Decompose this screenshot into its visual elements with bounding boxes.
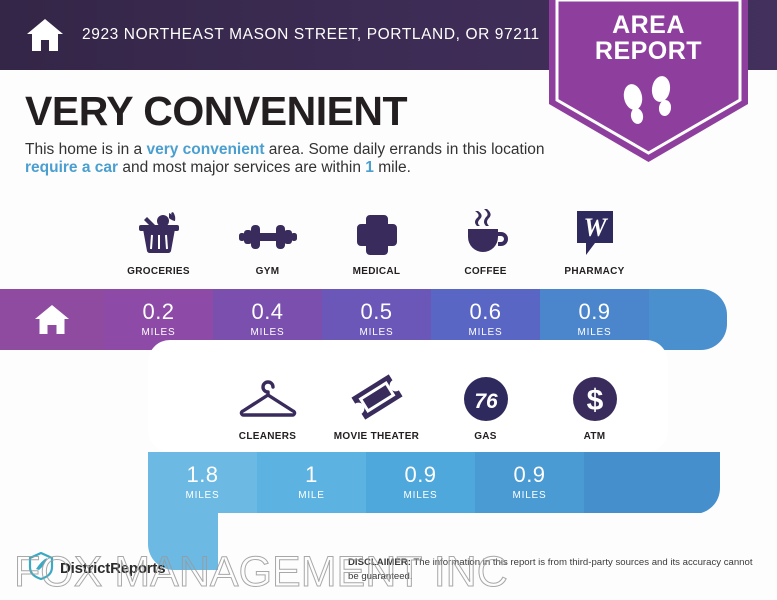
category-label: MOVIE THEATER bbox=[334, 431, 419, 442]
category-label: MEDICAL bbox=[353, 266, 401, 277]
category-atm[interactable]: $ ATM bbox=[540, 370, 649, 442]
svg-text:76: 76 bbox=[474, 390, 498, 413]
distance-value: 1.8 bbox=[186, 464, 218, 486]
subtitle-highlight-3: 1 bbox=[365, 159, 374, 176]
medical-cross-icon bbox=[355, 205, 399, 257]
category-label: COFFEE bbox=[464, 266, 506, 277]
distance-value: 0.9 bbox=[513, 464, 545, 486]
distance-unit: MILE bbox=[298, 490, 325, 501]
row1-icon-group: GROCERIES GYM bbox=[104, 205, 649, 277]
subtitle-highlight-1: very convenient bbox=[146, 141, 264, 158]
coffee-cup-icon bbox=[461, 205, 511, 257]
category-label: GAS bbox=[474, 431, 497, 442]
bar2-segments: 1.8 MILES 1 MILE 0.9 MILES 0.9 MILES bbox=[148, 452, 720, 514]
category-label: ATM bbox=[584, 431, 606, 442]
disclaimer-label: DISCLAIMER: bbox=[348, 557, 411, 568]
distance-unit: MILES bbox=[141, 327, 175, 338]
distance-value: 0.4 bbox=[251, 301, 283, 323]
badge-label: AREA REPORT bbox=[549, 12, 748, 64]
distance-segment: 1.8 MILES bbox=[148, 452, 257, 513]
category-coffee[interactable]: COFFEE bbox=[431, 205, 540, 277]
category-cleaners[interactable]: CLEANERS bbox=[213, 370, 322, 442]
category-label: CLEANERS bbox=[239, 431, 296, 442]
category-groceries[interactable]: GROCERIES bbox=[104, 205, 213, 277]
svg-text:W: W bbox=[583, 213, 608, 242]
subtitle-part-1: This home is in a bbox=[25, 141, 146, 158]
bar-home-cell bbox=[0, 289, 104, 350]
subtitle-part-4: mile. bbox=[374, 159, 411, 176]
area-report-page: 2923 NORTHEAST MASON STREET, PORTLAND, O… bbox=[0, 0, 777, 600]
distance-unit: MILES bbox=[468, 327, 502, 338]
dumbbell-icon bbox=[239, 205, 297, 257]
page-subtitle: This home is in a very convenient area. … bbox=[25, 141, 555, 177]
distance-value: 0.6 bbox=[469, 301, 501, 323]
movie-ticket-icon bbox=[351, 370, 403, 422]
district-reports-logo: DistrictReports bbox=[28, 552, 165, 585]
category-label: GROCERIES bbox=[127, 266, 190, 277]
property-address: 2923 NORTHEAST MASON STREET, PORTLAND, O… bbox=[82, 26, 540, 44]
distance-value: 1 bbox=[305, 464, 318, 486]
distance-unit: MILES bbox=[577, 327, 611, 338]
distance-value: 0.9 bbox=[404, 464, 436, 486]
distance-value: 0.9 bbox=[578, 301, 610, 323]
distance-unit: MILES bbox=[185, 490, 219, 501]
distance-unit: MILES bbox=[359, 327, 393, 338]
home-icon bbox=[33, 303, 71, 337]
walgreens-w-icon: W bbox=[573, 205, 617, 257]
distance-segment: 0.9 MILES bbox=[475, 452, 584, 513]
subtitle-part-3: and most major services are within bbox=[118, 159, 365, 176]
distance-segment: 0.9 MILES bbox=[366, 452, 475, 513]
bar-tail bbox=[584, 452, 720, 513]
distance-value: 0.5 bbox=[360, 301, 392, 323]
logo-text: DistrictReports bbox=[60, 560, 165, 577]
badge-line-1: AREA bbox=[549, 12, 748, 38]
subtitle-part-2: area. Some daily errands in this locatio… bbox=[265, 141, 545, 158]
category-label: GYM bbox=[256, 266, 280, 277]
distance-unit: MILES bbox=[250, 327, 284, 338]
bar-tail bbox=[649, 289, 727, 350]
category-movie-theater[interactable]: MOVIE THEATER bbox=[322, 370, 431, 442]
category-label: PHARMACY bbox=[564, 266, 624, 277]
page-title: VERY CONVENIENT bbox=[25, 88, 407, 135]
area-report-badge: AREA REPORT bbox=[549, 0, 748, 162]
distance-value: 0.2 bbox=[142, 301, 174, 323]
home-icon bbox=[24, 15, 66, 55]
grocery-basket-icon bbox=[133, 205, 185, 257]
distance-unit: MILES bbox=[512, 490, 546, 501]
subtitle-highlight-2: require a car bbox=[25, 159, 118, 176]
badge-line-2: REPORT bbox=[549, 38, 748, 64]
gas-76-icon: 76 bbox=[463, 370, 509, 422]
district-reports-shield-icon bbox=[28, 552, 54, 585]
atm-dollar-icon: $ bbox=[572, 370, 618, 422]
distance-unit: MILES bbox=[403, 490, 437, 501]
clothes-hanger-icon bbox=[237, 370, 299, 422]
category-pharmacy[interactable]: W PHARMACY bbox=[540, 205, 649, 277]
disclaimer: DISCLAIMER: The information in this repo… bbox=[348, 556, 753, 584]
svg-text:$: $ bbox=[586, 384, 603, 417]
category-medical[interactable]: MEDICAL bbox=[322, 205, 431, 277]
row2-icon-group: CLEANERS MOVIE THEATER 76 GAS bbox=[213, 370, 649, 442]
distance-segment: 1 MILE bbox=[257, 452, 366, 513]
category-gym[interactable]: GYM bbox=[213, 205, 322, 277]
category-gas[interactable]: 76 GAS bbox=[431, 370, 540, 442]
